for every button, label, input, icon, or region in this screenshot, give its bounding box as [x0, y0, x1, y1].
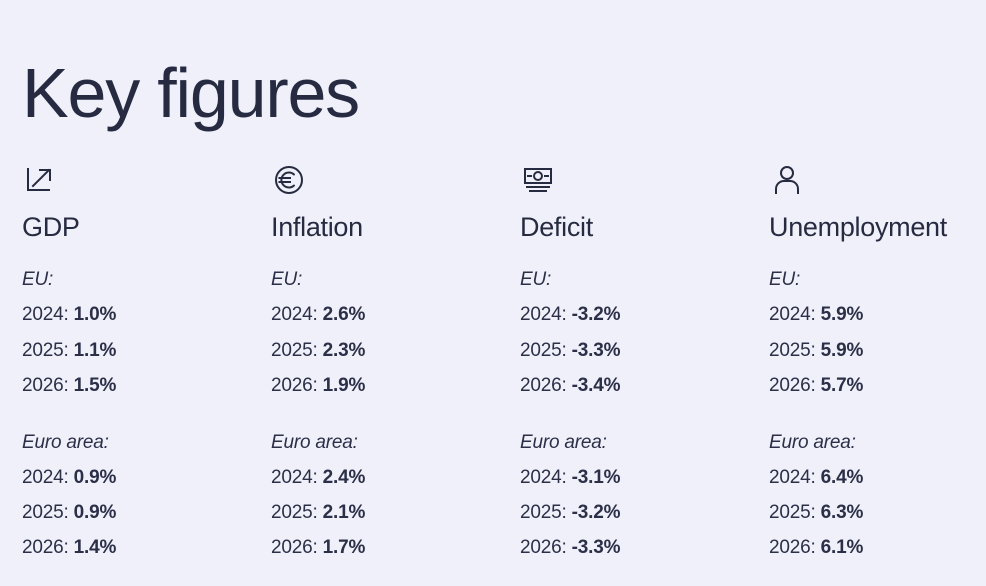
year-value-row: 2026: 5.7% [769, 368, 976, 403]
region-label: Euro area: [769, 425, 976, 460]
year-value-row: 2025: 2.1% [271, 495, 510, 530]
year-label: 2024: [520, 304, 567, 325]
region-block: EU:2024: -3.2%2025: -3.3%2026: -3.4% [520, 262, 759, 403]
year-label: 2026: [769, 537, 816, 558]
region-label: EU: [520, 262, 759, 297]
year-label: 2025: [271, 340, 318, 361]
year-value-row: 2024: 1.0% [22, 297, 261, 332]
year-value-row: 2025: 2.3% [271, 333, 510, 368]
person-icon [769, 162, 976, 198]
year-label: 2026: [22, 537, 69, 558]
year-label: 2024: [271, 467, 318, 488]
year-value: 6.4% [821, 467, 864, 488]
year-value-row: 2026: 1.7% [271, 530, 510, 565]
year-value-row: 2025: 5.9% [769, 333, 976, 368]
year-value: 1.4% [74, 537, 117, 558]
metric-title: Inflation [271, 212, 510, 242]
year-label: 2026: [271, 375, 318, 396]
region-label: Euro area: [520, 425, 759, 460]
year-value-row: 2025: 6.3% [769, 495, 976, 530]
figure-column-unemployment: UnemploymentEU:2024: 5.9%2025: 5.9%2026:… [769, 162, 986, 565]
year-value-row: 2024: 0.9% [22, 460, 261, 495]
year-label: 2025: [769, 340, 816, 361]
year-value-row: 2025: 0.9% [22, 495, 261, 530]
year-value: 5.9% [821, 304, 864, 325]
year-value: 5.7% [821, 375, 864, 396]
year-label: 2026: [769, 375, 816, 396]
year-value-row: 2024: 5.9% [769, 297, 976, 332]
key-figures-panel: Key figures GDPEU:2024: 1.0%2025: 1.1%20… [0, 0, 986, 586]
year-value: -3.4% [572, 375, 621, 396]
year-value-row: 2024: -3.2% [520, 297, 759, 332]
year-label: 2026: [271, 537, 318, 558]
year-value-row: 2025: 1.1% [22, 333, 261, 368]
year-value: 1.1% [74, 340, 117, 361]
year-value: 2.1% [323, 502, 366, 523]
year-value: 5.9% [821, 340, 864, 361]
year-value-row: 2026: -3.3% [520, 530, 759, 565]
region-label: EU: [769, 262, 976, 297]
year-value-row: 2026: -3.4% [520, 368, 759, 403]
year-value-row: 2025: -3.3% [520, 333, 759, 368]
banknotes-icon [520, 162, 759, 198]
year-value: 1.5% [74, 375, 117, 396]
year-label: 2024: [271, 304, 318, 325]
year-label: 2025: [271, 502, 318, 523]
page-title: Key figures [22, 58, 359, 128]
region-block: Euro area:2024: -3.1%2025: -3.2%2026: -3… [520, 425, 759, 566]
year-value: 2.4% [323, 467, 366, 488]
year-label: 2025: [520, 340, 567, 361]
year-label: 2026: [520, 537, 567, 558]
year-label: 2025: [22, 340, 69, 361]
region-label: Euro area: [22, 425, 261, 460]
year-value: 1.9% [323, 375, 366, 396]
region-block: EU:2024: 1.0%2025: 1.1%2026: 1.5% [22, 262, 261, 403]
region-label: Euro area: [271, 425, 510, 460]
figure-column-gdp: GDPEU:2024: 1.0%2025: 1.1%2026: 1.5%Euro… [22, 162, 271, 565]
year-label: 2024: [22, 467, 69, 488]
year-label: 2025: [520, 502, 567, 523]
year-value: -3.2% [572, 502, 621, 523]
year-value: -3.2% [572, 304, 621, 325]
year-label: 2026: [520, 375, 567, 396]
euro-circle-icon [271, 162, 510, 198]
region-block: EU:2024: 5.9%2025: 5.9%2026: 5.7% [769, 262, 976, 403]
year-label: 2024: [520, 467, 567, 488]
year-label: 2024: [769, 304, 816, 325]
key-figures-grid: GDPEU:2024: 1.0%2025: 1.1%2026: 1.5%Euro… [22, 162, 986, 565]
metric-title: GDP [22, 212, 261, 242]
year-label: 2026: [22, 375, 69, 396]
year-value: 2.3% [323, 340, 366, 361]
year-value: 0.9% [74, 502, 117, 523]
year-value: 0.9% [74, 467, 117, 488]
year-value-row: 2024: 2.4% [271, 460, 510, 495]
figure-column-deficit: DeficitEU:2024: -3.2%2025: -3.3%2026: -3… [520, 162, 769, 565]
region-block: Euro area:2024: 2.4%2025: 2.1%2026: 1.7% [271, 425, 510, 566]
year-label: 2025: [769, 502, 816, 523]
year-label: 2024: [22, 304, 69, 325]
year-value-row: 2026: 1.9% [271, 368, 510, 403]
metric-title: Deficit [520, 212, 759, 242]
year-value: -3.3% [572, 340, 621, 361]
year-value: 2.6% [323, 304, 366, 325]
year-label: 2024: [769, 467, 816, 488]
year-value: 6.1% [821, 537, 864, 558]
year-value: 1.7% [323, 537, 366, 558]
region-block: EU:2024: 2.6%2025: 2.3%2026: 1.9% [271, 262, 510, 403]
figure-column-inflation: InflationEU:2024: 2.6%2025: 2.3%2026: 1.… [271, 162, 520, 565]
year-value-row: 2024: 6.4% [769, 460, 976, 495]
year-label: 2025: [22, 502, 69, 523]
year-value-row: 2025: -3.2% [520, 495, 759, 530]
trending-up-arrow-icon [22, 162, 261, 198]
region-block: Euro area:2024: 6.4%2025: 6.3%2026: 6.1% [769, 425, 976, 566]
year-value: 1.0% [74, 304, 117, 325]
metric-title: Unemployment [769, 212, 976, 242]
year-value: -3.1% [572, 467, 621, 488]
year-value-row: 2026: 1.4% [22, 530, 261, 565]
year-value-row: 2026: 1.5% [22, 368, 261, 403]
year-value-row: 2024: 2.6% [271, 297, 510, 332]
region-label: EU: [22, 262, 261, 297]
year-value: 6.3% [821, 502, 864, 523]
year-value-row: 2024: -3.1% [520, 460, 759, 495]
year-value-row: 2026: 6.1% [769, 530, 976, 565]
region-block: Euro area:2024: 0.9%2025: 0.9%2026: 1.4% [22, 425, 261, 566]
year-value: -3.3% [572, 537, 621, 558]
region-label: EU: [271, 262, 510, 297]
